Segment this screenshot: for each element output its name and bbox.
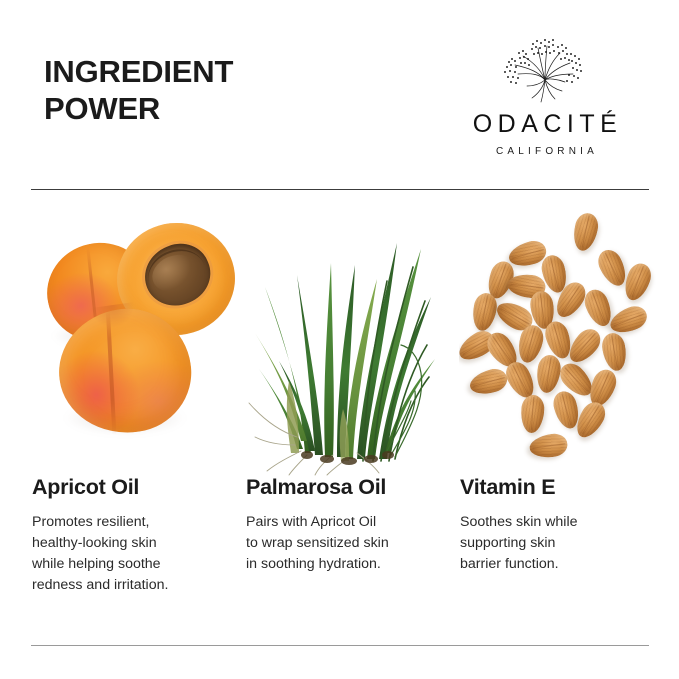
- ingredient-power-card: INGREDIENT POWER: [0, 0, 679, 679]
- header: INGREDIENT POWER: [0, 0, 679, 190]
- dill-umbel-flower-icon: [485, 34, 605, 106]
- ingredient-title: Vitamin E: [460, 477, 673, 499]
- palmarosa-grass-image: [245, 205, 459, 477]
- brand-subtitle: CALIFORNIA: [430, 146, 660, 157]
- ingredient-title: Palmarosa Oil: [246, 477, 459, 499]
- almond: [528, 432, 569, 460]
- ingredient-columns: Apricot Oil Promotes resilient, healthy-…: [0, 205, 679, 635]
- ingredient-column-palmarosa-oil: Palmarosa Oil Pairs with Apricot Oil to …: [245, 205, 459, 575]
- ingredient-column-apricot-oil: Apricot Oil Promotes resilient, healthy-…: [31, 205, 245, 597]
- almond: [600, 331, 629, 372]
- ingredient-description: Promotes resilient, healthy-looking skin…: [32, 512, 245, 597]
- ingredient-description: Pairs with Apricot Oil to wrap sensitize…: [246, 512, 459, 576]
- almond: [620, 260, 655, 304]
- page-title: INGREDIENT POWER: [44, 54, 233, 127]
- grass-blades-illustration: [245, 205, 459, 477]
- brand-name: ODACITÉ: [430, 112, 660, 137]
- almond: [470, 291, 499, 332]
- brand-lockup: ODACITÉ CALIFORNIA: [430, 34, 660, 157]
- apricot-fruit-image: [31, 205, 245, 477]
- divider-top: [31, 189, 649, 190]
- almond: [520, 394, 546, 434]
- ingredient-column-vitamin-e: Vitamin E Soothes skin while supporting …: [459, 205, 673, 575]
- almond: [570, 211, 600, 253]
- almond: [467, 366, 510, 399]
- divider-bottom: [31, 645, 649, 646]
- ingredient-title: Apricot Oil: [32, 477, 245, 499]
- almonds-image: [459, 205, 673, 477]
- ingredient-description: Soothes skin while supporting skin barri…: [460, 512, 673, 576]
- almond: [534, 354, 562, 395]
